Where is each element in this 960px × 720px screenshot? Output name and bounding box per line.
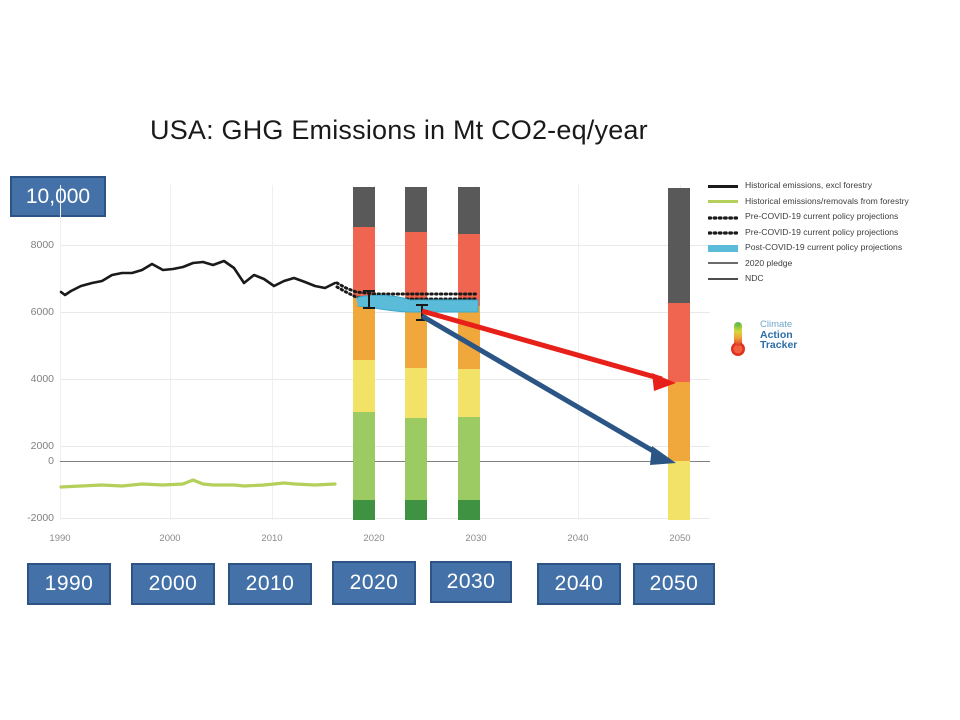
vgridline-1990 xyxy=(60,185,61,520)
bar-segment-yellow xyxy=(668,461,690,520)
y-tick-labels: 8000 6000 4000 2000 xyxy=(0,185,54,520)
zero-line xyxy=(60,461,710,462)
legend-label: Post-COVID-19 current policy projections xyxy=(745,243,902,252)
legend-key-solid-darkgrey-icon xyxy=(708,273,738,285)
legend-key-dotted-icon xyxy=(708,226,738,238)
vgridline-2000 xyxy=(170,185,171,520)
bar-segment-orange xyxy=(405,305,427,368)
logo-line-tracker: Tracker xyxy=(760,340,797,351)
plot-area xyxy=(60,185,710,520)
bar-segment-yellow xyxy=(405,368,427,418)
bar-segment-light-green xyxy=(458,417,480,500)
y-tick-6000: 6000 xyxy=(31,306,54,318)
stacked-bar-2020[interactable] xyxy=(353,185,375,520)
legend-label: Historical emissions, excl forestry xyxy=(745,181,872,190)
bar-segment-grey-top xyxy=(668,188,690,303)
legend-key-solid-black-icon xyxy=(708,180,738,192)
vgridline-2040 xyxy=(578,185,579,520)
legend-item-pre-covid-2[interactable]: Pre-COVID-19 current policy projections xyxy=(708,225,958,241)
legend-key-solid-green-icon xyxy=(708,195,738,207)
stacked-bar-2050[interactable] xyxy=(668,185,690,520)
slide-canvas: USA: GHG Emissions in Mt CO2-eq/year 10,… xyxy=(0,0,960,720)
year-badge-2040[interactable]: 2040 xyxy=(537,563,621,605)
gridline-4000 xyxy=(60,379,710,380)
bar-segment-dark-green xyxy=(353,500,375,520)
legend-item-pre-covid-1[interactable]: Pre-COVID-19 current policy projections xyxy=(708,209,958,225)
legend-item-historical-emissions[interactable]: Historical emissions, excl forestry xyxy=(708,178,958,194)
gridline-6000 xyxy=(60,312,710,313)
legend-label: Historical emissions/removals from fores… xyxy=(745,197,909,206)
legend-item-2020-pledge[interactable]: 2020 pledge xyxy=(708,256,958,272)
y-tick-0: 0 xyxy=(0,455,54,467)
year-badge-2020[interactable]: 2020 xyxy=(332,561,416,605)
thermometer-icon xyxy=(724,318,756,360)
y-tick--2000: -2000 xyxy=(0,512,54,524)
legend-item-ndc[interactable]: NDC xyxy=(708,271,958,287)
year-badge-2000[interactable]: 2000 xyxy=(131,563,215,605)
legend-label: NDC xyxy=(745,274,764,283)
legend-item-forestry[interactable]: Historical emissions/removals from fores… xyxy=(708,194,958,210)
x-tick-2050: 2050 xyxy=(669,533,690,544)
y-tick-4000: 4000 xyxy=(31,373,54,385)
logo-text: Climate Action Tracker xyxy=(760,320,797,351)
bar-segment-orange xyxy=(458,306,480,369)
page-title: USA: GHG Emissions in Mt CO2-eq/year xyxy=(150,115,770,146)
bar-segment-red xyxy=(405,232,427,305)
year-badge-2010[interactable]: 2010 xyxy=(228,563,312,605)
bar-segment-red xyxy=(668,303,690,382)
bar-segment-dark-green xyxy=(458,500,480,520)
year-badge-2050[interactable]: 2050 xyxy=(633,563,715,605)
stacked-bar-2030[interactable] xyxy=(458,185,480,520)
stacked-bar-2025[interactable] xyxy=(405,185,427,520)
x-tick-1990: 1990 xyxy=(49,533,70,544)
climate-action-tracker-logo: Climate Action Tracker xyxy=(724,318,810,360)
bar-segment-yellow xyxy=(458,369,480,417)
bar-segment-yellow xyxy=(353,360,375,412)
legend-item-post-covid[interactable]: Post-COVID-19 current policy projections xyxy=(708,240,958,256)
gridline--2000 xyxy=(60,518,710,519)
bar-segment-light-green xyxy=(405,418,427,500)
x-tick-2030: 2030 xyxy=(465,533,486,544)
year-badge-2030[interactable]: 2030 xyxy=(430,561,512,603)
x-tick-2010: 2010 xyxy=(261,533,282,544)
bar-segment-light-green xyxy=(353,412,375,500)
legend-label: 2020 pledge xyxy=(745,259,792,268)
legend: Historical emissions, excl forestry Hist… xyxy=(708,178,958,287)
gridline-2000 xyxy=(60,446,710,447)
legend-label: Pre-COVID-19 current policy projections xyxy=(745,228,898,237)
legend-key-dotted-icon xyxy=(708,211,738,223)
vgridline-2010 xyxy=(272,185,273,520)
bar-segment-grey-top xyxy=(405,187,427,232)
gridline-8000 xyxy=(60,245,710,246)
legend-key-band-cyan-icon xyxy=(708,242,738,254)
bar-segment-grey-top xyxy=(458,187,480,234)
bar-segment-red xyxy=(353,227,375,296)
x-tick-2000: 2000 xyxy=(159,533,180,544)
year-badge-1990[interactable]: 1990 xyxy=(27,563,111,605)
x-tick-2020: 2020 xyxy=(363,533,384,544)
bar-segment-red xyxy=(458,234,480,306)
x-tick-2040: 2040 xyxy=(567,533,588,544)
y-tick-8000: 8000 xyxy=(31,239,54,251)
bar-segment-dark-green xyxy=(405,500,427,520)
legend-key-solid-grey-icon xyxy=(708,257,738,269)
legend-label: Pre-COVID-19 current policy projections xyxy=(745,212,898,221)
bar-segment-orange xyxy=(668,382,690,461)
bar-segment-grey-top xyxy=(353,187,375,227)
y-tick-2000: 2000 xyxy=(31,440,54,452)
bar-segment-orange xyxy=(353,296,375,360)
